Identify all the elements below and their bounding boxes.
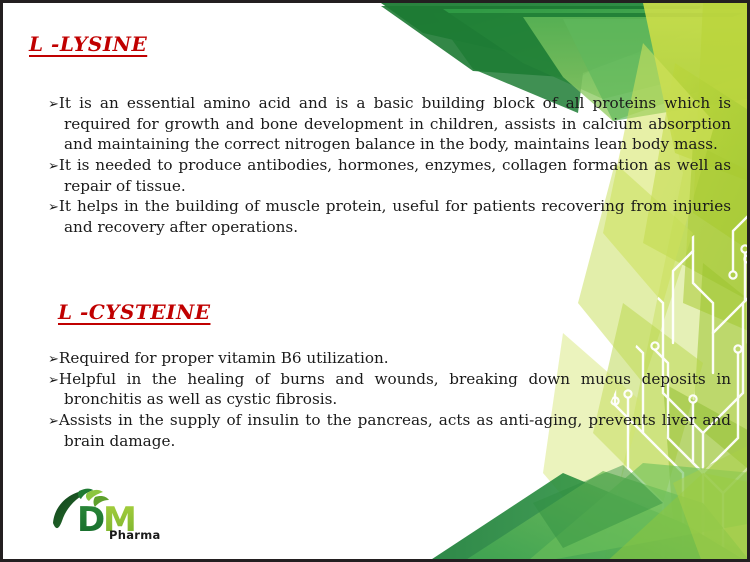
list-item-text: It helps in the building of muscle prote… [59,197,731,236]
logo-wordmark: Pharma [109,528,161,542]
list-item: ➢Required for proper vitamin B6 utilizat… [48,348,731,369]
list-item: ➢It is an essential amino acid and is a … [48,93,731,155]
slide-canvas: L -LYSINE ➢It is an essential amino acid… [0,0,750,562]
bullet-list-l-lysine: ➢It is an essential amino acid and is a … [48,93,731,238]
bullet-arrow-icon: ➢ [48,200,59,215]
bullet-arrow-icon: ➢ [48,373,59,388]
list-item-text: It is needed to produce antibodies, horm… [59,156,731,195]
logo-letter-d: D [77,500,105,540]
list-item: ➢Assists in the supply of insulin to the… [48,410,731,451]
section-heading-l-cysteine: L -CYSTEINE [58,300,210,324]
list-item-text: It is an essential amino acid and is a b… [59,94,731,153]
decorative-background [3,3,750,562]
bullet-list-l-cysteine: ➢Required for proper vitamin B6 utilizat… [48,348,731,451]
bullet-arrow-icon: ➢ [48,97,59,112]
list-item-text: Required for proper vitamin B6 utilizati… [59,349,389,367]
bullet-arrow-icon: ➢ [48,159,59,174]
bullet-arrow-icon: ➢ [48,352,59,367]
list-item: ➢It helps in the building of muscle prot… [48,196,731,237]
company-logo: D M Pharma [49,487,161,555]
list-item: ➢Helpful in the healing of burns and wou… [48,369,731,410]
list-item-text: Helpful in the healing of burns and woun… [59,370,731,409]
section-heading-l-lysine: L -LYSINE [29,32,147,56]
bullet-arrow-icon: ➢ [48,414,59,429]
list-item-text: Assists in the supply of insulin to the … [59,411,731,450]
list-item: ➢It is needed to produce antibodies, hor… [48,155,731,196]
